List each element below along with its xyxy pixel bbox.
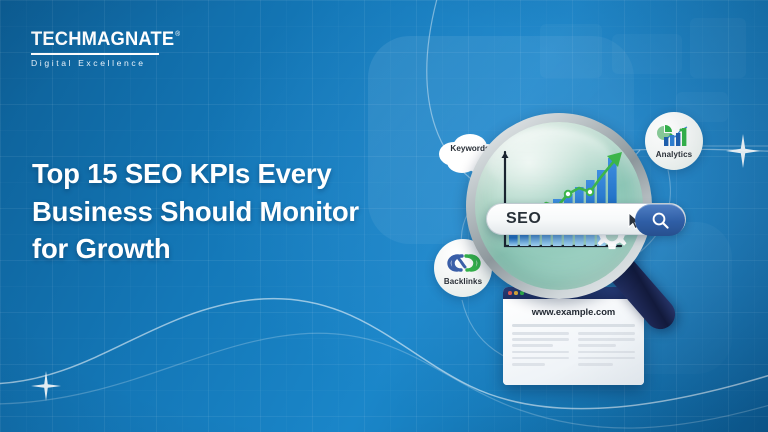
placeholder-line (512, 363, 545, 366)
placeholder-line (512, 357, 569, 360)
placeholder-line (512, 332, 569, 335)
search-icon (651, 211, 670, 230)
placeholder-line (578, 338, 635, 341)
placeholder-line (578, 357, 635, 360)
placeholder-line (512, 338, 569, 341)
search-input[interactable]: SEO (506, 210, 541, 228)
placeholder-line (578, 351, 635, 354)
content-placeholder-columns (512, 332, 635, 369)
seo-banner: TECHMAGNATE® Digital Excellence Top 15 S… (0, 0, 768, 432)
placeholder-line (578, 363, 613, 366)
content-column-right (578, 332, 635, 369)
sparkle-icon-right (724, 132, 762, 170)
content-placeholder-heading (512, 324, 635, 327)
placeholder-line (578, 344, 616, 347)
search-button[interactable] (635, 204, 685, 236)
placeholder-line (578, 332, 635, 335)
sparkle-icon-left (30, 370, 62, 402)
placeholder-line (512, 351, 569, 354)
search-bar[interactable]: SEO (486, 203, 686, 235)
content-column-left (512, 332, 569, 369)
hero-illustration: Keywords Analytics (0, 0, 768, 432)
placeholder-line (512, 344, 553, 347)
